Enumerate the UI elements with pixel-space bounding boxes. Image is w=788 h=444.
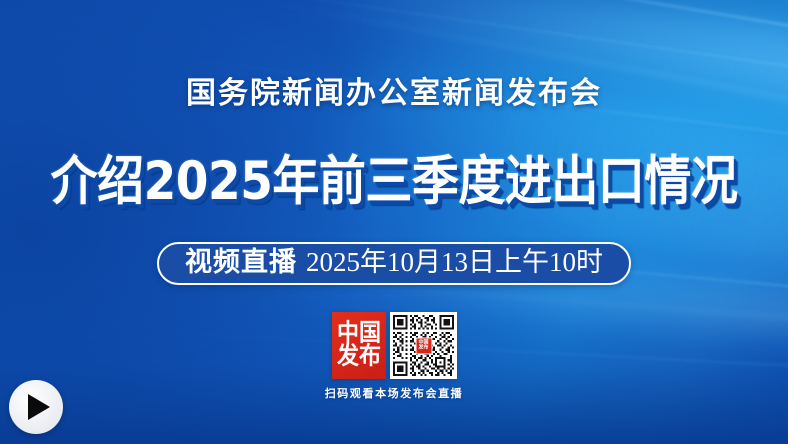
scan-caption: 扫码观看本场发布会直播 (0, 385, 788, 401)
play-icon (28, 394, 50, 420)
brand-and-qr-block: 中国 发布 (332, 312, 457, 379)
live-broadcast-label: 视频直播 (185, 249, 297, 276)
live-broadcast-datetime: 2025年10月13日上午10时 (306, 249, 603, 276)
qr-code[interactable]: 中国 发布 (390, 312, 457, 379)
qr-logo-line-2: 发布 (418, 346, 428, 351)
play-button[interactable] (9, 380, 63, 434)
qr-center-logo: 中国 发布 (415, 337, 432, 354)
logo-line-2: 发布 (337, 345, 381, 369)
organization-title: 国务院新闻办公室新闻发布会 (0, 68, 788, 112)
china-release-logo: 中国 发布 (332, 312, 386, 379)
press-conference-poster: 国务院新闻办公室新闻发布会 介绍2025年前三季度进出口情况 视频直播 2025… (0, 0, 788, 444)
live-broadcast-badge: 视频直播 2025年10月13日上午10时 (157, 242, 631, 285)
page-title: 介绍2025年前三季度进出口情况 (0, 155, 788, 208)
